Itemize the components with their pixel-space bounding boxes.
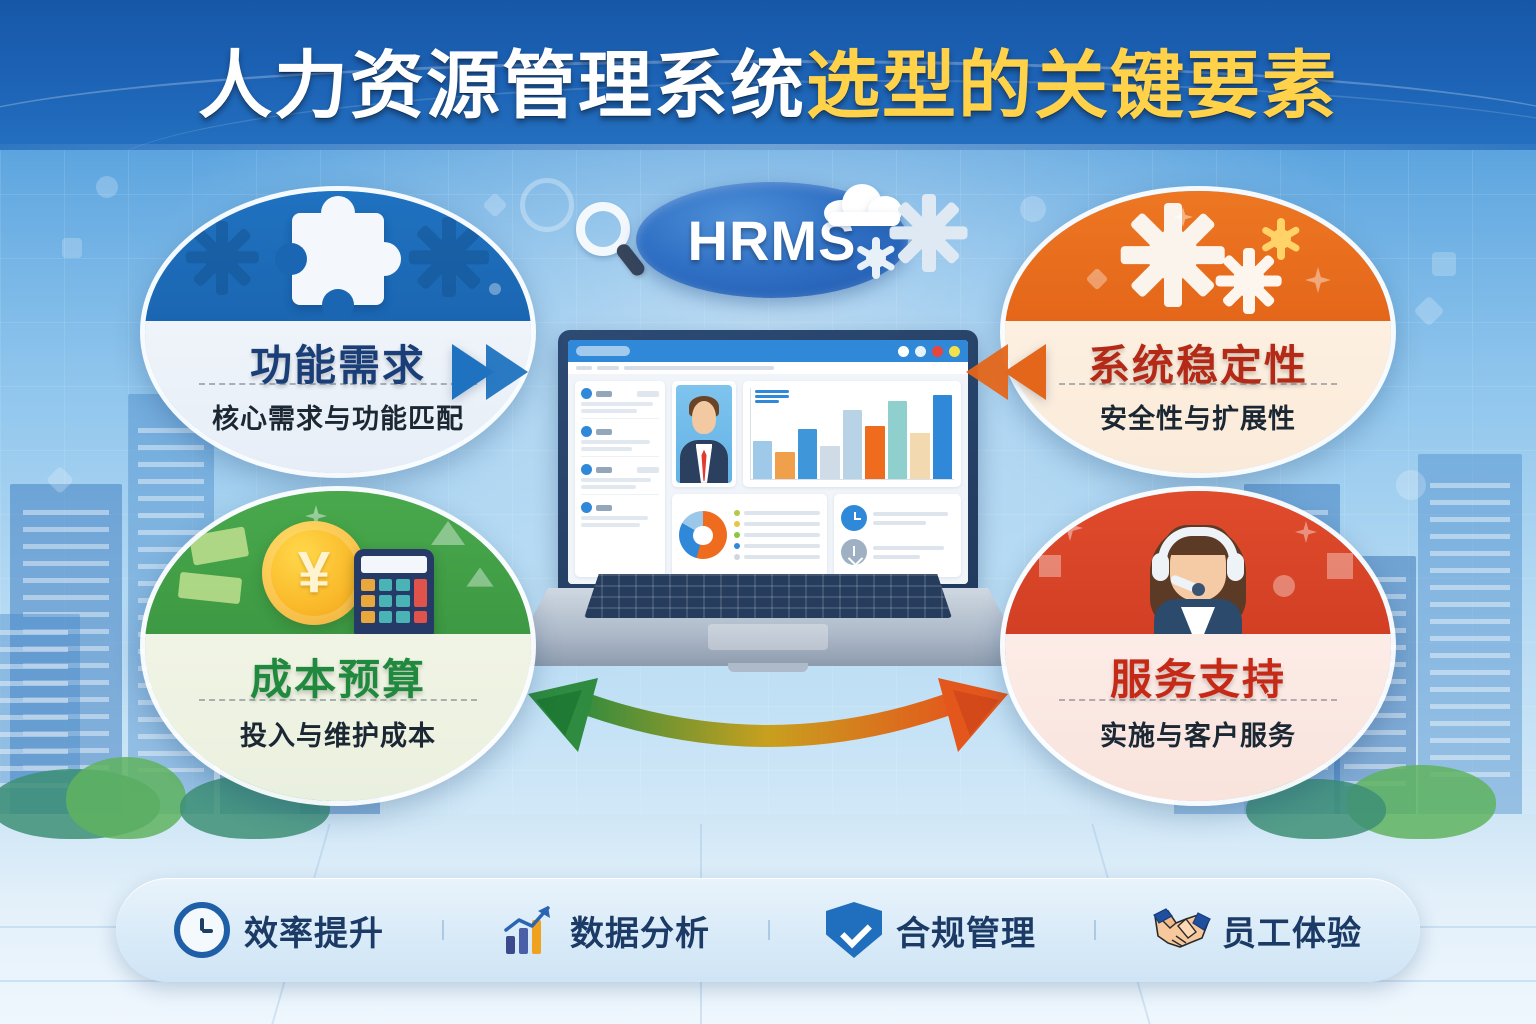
window-controls[interactable] xyxy=(898,346,960,357)
building xyxy=(1418,454,1522,814)
card-subtitle: 核心需求与功能匹配 xyxy=(145,397,531,436)
status-dot xyxy=(581,426,592,437)
laptop-keyboard[interactable] xyxy=(584,574,952,618)
coin-icon: ¥ xyxy=(262,521,366,625)
sparkle xyxy=(1295,521,1317,543)
card-icon-area xyxy=(1005,191,1391,321)
arrow-left-orange-icon xyxy=(966,344,1008,400)
card-functional-requirements[interactable]: 功能需求 核心需求与功能匹配 xyxy=(140,186,536,478)
status-dot xyxy=(581,388,592,399)
clock-icon xyxy=(174,902,230,958)
card-icon-area xyxy=(145,191,531,321)
arrow-left-orange-icon xyxy=(1004,344,1046,400)
clock-icon xyxy=(841,505,867,531)
banknote xyxy=(189,526,249,565)
cloud-icon xyxy=(824,182,906,224)
page-title-accent: 选型的关键要素 xyxy=(806,44,1338,127)
laptop-front-notch xyxy=(728,663,808,672)
card-icon-area xyxy=(1005,491,1391,634)
list-item[interactable] xyxy=(581,388,659,419)
hrms-badge-cluster: HRMS xyxy=(568,176,968,304)
gear-icon xyxy=(415,223,483,291)
hrms-dashboard-laptop xyxy=(506,330,1030,700)
card-divider xyxy=(1059,699,1337,701)
arrow-right-blue-icon xyxy=(486,344,528,400)
list-item[interactable] xyxy=(581,426,659,457)
card-service-support[interactable]: 服务支持 实施与客户服务 xyxy=(1000,486,1396,806)
benefit-label: 合规管理 xyxy=(896,906,1036,955)
decor-circle xyxy=(96,176,118,198)
headset-agent-icon xyxy=(1134,513,1262,634)
decor-square xyxy=(62,238,82,258)
bar-chart-icon xyxy=(500,902,556,958)
card-system-stability[interactable]: 系统稳定性 安全性与扩展性 xyxy=(1000,186,1396,478)
currency-symbol: ¥ xyxy=(298,544,330,602)
gears-icon xyxy=(1129,211,1217,299)
gear-accent-icon xyxy=(1263,221,1299,257)
sparkle xyxy=(1305,267,1331,293)
shield-check-icon xyxy=(826,902,882,958)
card-cost-budget[interactable]: ¥ 成本预算 投入与维护成本 xyxy=(140,486,536,806)
calculator-display xyxy=(361,556,427,573)
attendance-stats-card[interactable] xyxy=(834,494,961,577)
decor-circle xyxy=(1396,470,1426,500)
down-arrow xyxy=(431,521,465,545)
stat-row xyxy=(841,539,954,565)
card-divider xyxy=(199,383,477,385)
dashboard-breadcrumb xyxy=(568,362,968,374)
sparkle xyxy=(197,507,213,523)
laptop-trackpad[interactable] xyxy=(708,624,828,650)
calculator-keys xyxy=(361,579,427,623)
gear-small-icon xyxy=(1221,253,1277,309)
benefit-label: 数据分析 xyxy=(570,906,710,955)
dashboard-titlebar xyxy=(568,340,968,362)
distribution-donut-card[interactable] xyxy=(672,494,827,577)
handshake-svg xyxy=(1152,902,1212,958)
sparkle xyxy=(489,283,501,295)
card-icon-area: ¥ xyxy=(145,491,531,634)
card-subtitle: 投入与维护成本 xyxy=(145,714,531,753)
download-clock-icon xyxy=(841,539,867,565)
gear-icon xyxy=(191,227,253,289)
sparkle xyxy=(1039,555,1061,577)
down-arrow xyxy=(466,567,493,586)
laptop-screen xyxy=(568,340,968,584)
address-bar[interactable] xyxy=(576,346,630,356)
card-subtitle: 安全性与扩展性 xyxy=(1005,397,1391,436)
dashboard-body xyxy=(568,374,968,584)
chart-bars xyxy=(753,388,952,479)
benefit-item-compliance[interactable]: 合规管理 xyxy=(768,902,1094,958)
page-title: 人力资源管理系统选型的关键要素 xyxy=(0,26,1536,133)
benefit-label: 员工体验 xyxy=(1222,906,1362,955)
sparkle xyxy=(174,204,194,224)
infographic-stage: 人力资源管理系统选型的关键要素 HRMS xyxy=(0,0,1536,1024)
decor-square xyxy=(1432,252,1456,276)
benefit-label: 效率提升 xyxy=(244,906,384,955)
gear-small-icon xyxy=(858,240,894,276)
employee-avatar-card[interactable] xyxy=(672,381,736,487)
sparkle xyxy=(1013,229,1035,251)
bar-chart xyxy=(750,388,954,480)
benefit-item-efficiency[interactable]: 效率提升 xyxy=(116,902,442,958)
status-dot xyxy=(581,502,592,513)
donut-chart xyxy=(679,511,727,559)
card-subtitle: 实施与客户服务 xyxy=(1005,714,1391,753)
benefit-item-analytics[interactable]: 数据分析 xyxy=(442,902,768,958)
handshake-icon xyxy=(1152,902,1208,958)
sparkle xyxy=(1327,553,1353,579)
benefit-item-experience[interactable]: 员工体验 xyxy=(1094,902,1420,958)
laptop-lid xyxy=(558,330,978,596)
analytics-chart-card[interactable] xyxy=(743,381,961,487)
sparkle xyxy=(1057,515,1083,541)
gear-icon xyxy=(896,200,962,266)
stat-row xyxy=(841,505,954,531)
page-title-primary: 人力资源管理系统 xyxy=(198,44,806,127)
sparkle xyxy=(1273,575,1295,597)
status-dot xyxy=(581,464,592,475)
employee-list-panel[interactable] xyxy=(575,381,665,577)
calculator-icon xyxy=(354,549,434,634)
list-item[interactable] xyxy=(581,502,659,532)
list-item[interactable] xyxy=(581,464,659,495)
puzzle-piece-icon xyxy=(292,213,384,305)
header-underline xyxy=(0,144,1536,150)
avatar xyxy=(676,385,732,483)
bar-chart-svg xyxy=(500,902,556,958)
card-divider xyxy=(1059,383,1337,385)
card-divider xyxy=(199,699,477,701)
benefits-bar: 效率提升 数据分析 合规管理 xyxy=(116,878,1420,982)
banknote xyxy=(178,572,242,604)
donut-legend xyxy=(734,510,820,560)
sparkle xyxy=(1086,268,1109,291)
